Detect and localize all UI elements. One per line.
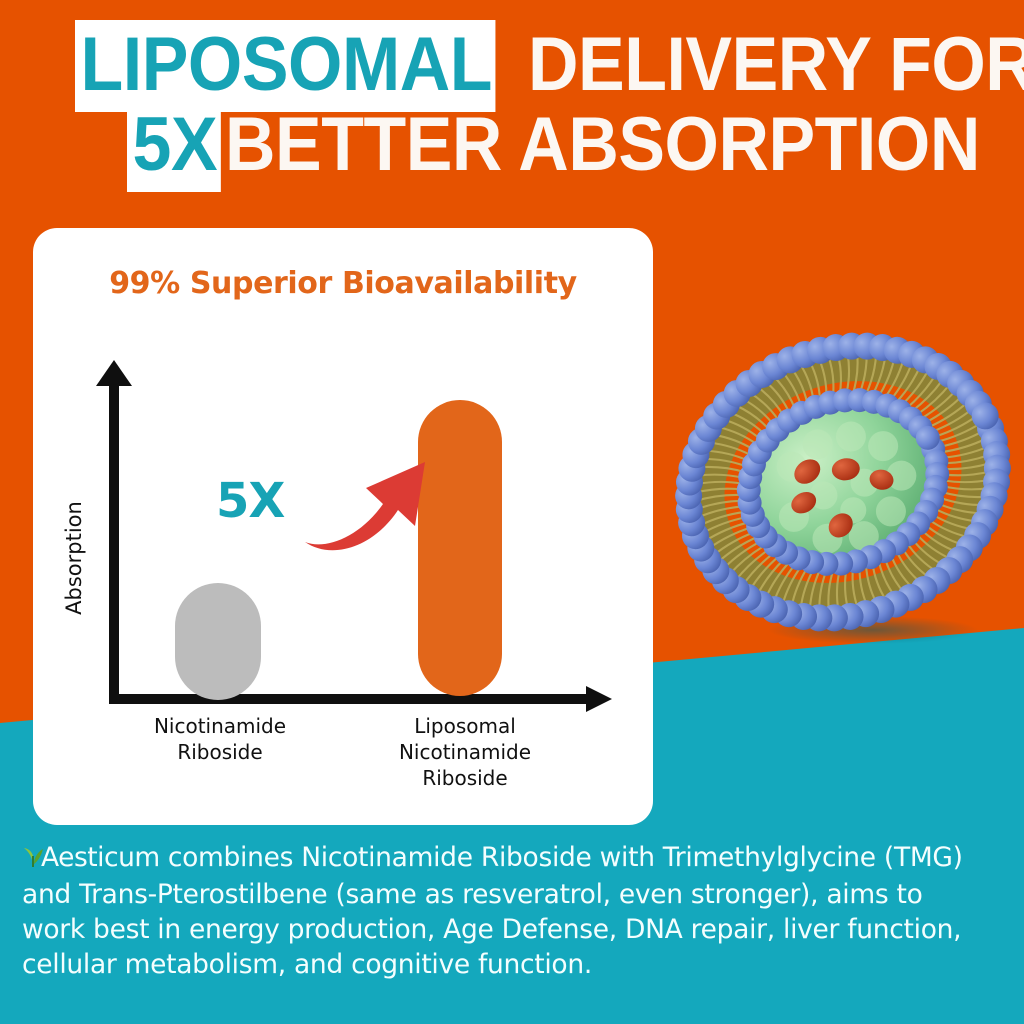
headline-line-1: LIPOSOMALDELIVERY FOR: [75, 20, 1024, 112]
category-label-2-line-1: Liposomal: [365, 713, 565, 739]
poster-canvas: LIPOSOMALDELIVERY FOR 5XBETTER ABSORPTIO…: [0, 0, 1024, 1024]
multiplier-annotation: 5X: [216, 473, 284, 529]
y-axis-line: [109, 380, 119, 702]
y-axis-arrowhead-icon: [96, 360, 132, 386]
headline-rest-better-absorption: BETTER ABSORPTION: [225, 100, 980, 192]
liposome-illustration: [668, 330, 1018, 660]
category-label-1-line-1: Nicotinamide: [115, 713, 325, 739]
brand-name: Aesticum: [41, 842, 160, 873]
category-label-2: Liposomal Nicotinamide Riboside: [365, 713, 565, 791]
category-label-1: Nicotinamide Riboside: [115, 713, 325, 765]
growth-arrow-icon: [303, 438, 443, 558]
bar-chart: Absorption 5X Nicotinamide Riboside Lipo…: [33, 228, 653, 825]
headline-block: LIPOSOMALDELIVERY FOR 5XBETTER ABSORPTIO…: [0, 0, 1024, 200]
headline-highlight-liposomal: LIPOSOMAL: [75, 20, 496, 112]
description-text: combines Nicotinamide Riboside with Trim…: [22, 842, 963, 980]
headline-highlight-5x: 5X: [127, 100, 221, 192]
headline-rest-delivery-for: DELIVERY FOR: [528, 20, 1024, 112]
x-axis-arrowhead-icon: [586, 686, 612, 712]
category-label-2-line-3: Riboside: [365, 765, 565, 791]
bar-nicotinamide-riboside: [175, 583, 261, 700]
y-axis-label: Absorption: [62, 473, 86, 643]
headline-line-2: 5XBETTER ABSORPTION: [127, 100, 1024, 192]
product-description: Aesticum combines Nicotinamide Riboside …: [22, 840, 992, 982]
category-label-1-line-2: Riboside: [115, 739, 325, 765]
x-axis-line: [109, 694, 594, 704]
chart-card: 99% Superior Bioavailability Absorption …: [33, 228, 653, 825]
category-label-2-line-2: Nicotinamide: [365, 739, 565, 765]
